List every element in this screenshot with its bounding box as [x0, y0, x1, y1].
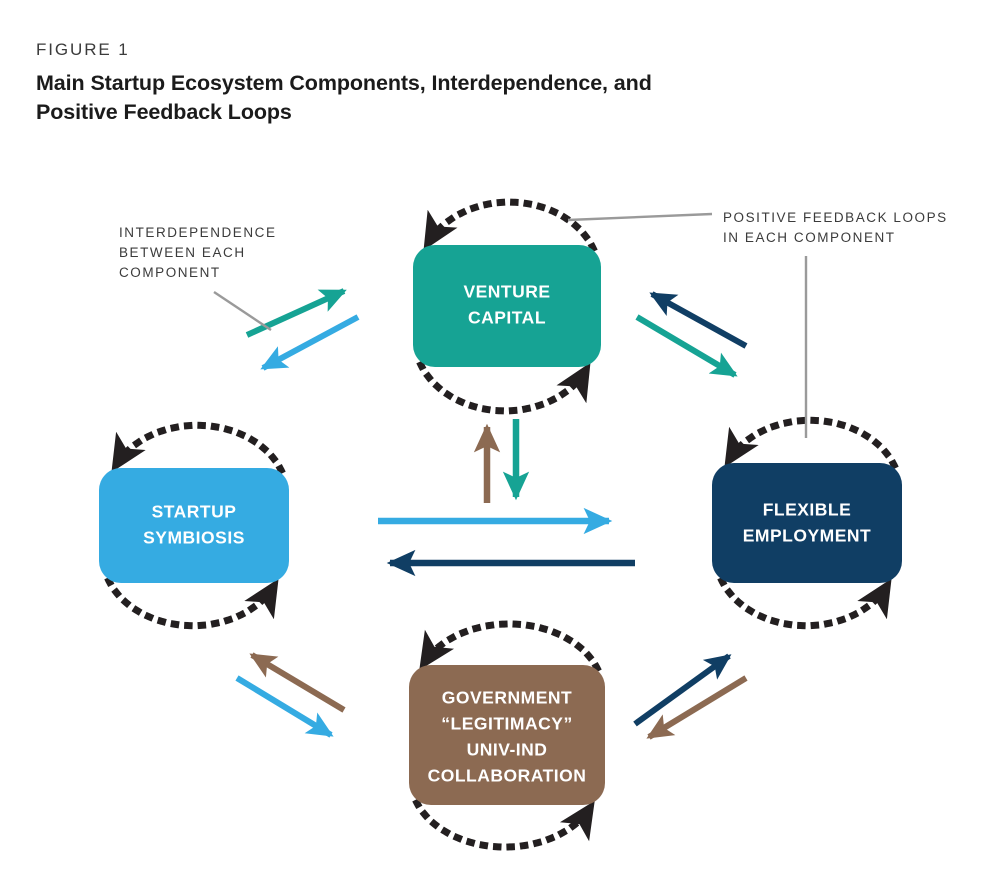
loop-arc-bottom-government: [417, 803, 590, 847]
node-flexible-employment-label-2: EMPLOYMENT: [743, 526, 871, 546]
figure-header: FIGURE 1 Main Startup Ecosystem Componen…: [36, 40, 736, 126]
node-flexible-employment-label-1: FLEXIBLE: [763, 500, 852, 520]
loop-arc-top-flexible: [729, 420, 894, 465]
annotation-interdependence-line-1: INTERDEPENDENCE: [119, 225, 277, 240]
annotation-interdependence: INTERDEPENDENCE BETWEEN EACH COMPONENT: [119, 225, 277, 330]
node-government[interactable]: GOVERNMENT “LEGITIMACY” UNIV-IND COLLABO…: [409, 665, 605, 805]
node-startup-symbiosis-shape[interactable]: [99, 468, 289, 583]
node-startup-symbiosis-label-1: STARTUP: [152, 502, 237, 522]
diagram-canvas: VENTURE CAPITAL STARTUP SYMBIOSIS FLEXIB…: [0, 150, 1000, 880]
annotation-positive-feedback-leader-line-top: [568, 214, 712, 220]
node-startup-symbiosis[interactable]: STARTUP SYMBIOSIS: [99, 468, 289, 583]
annotation-positive-feedback-line-1: POSITIVE FEEDBACK LOOPS: [723, 210, 948, 225]
arrow-pair-startup-flexible: [378, 521, 635, 563]
loop-arc-bottom-flexible: [722, 581, 887, 626]
annotation-interdependence-line-2: BETWEEN EACH: [119, 245, 246, 260]
arrow-vc-to-flexible: [637, 317, 735, 375]
ecosystem-diagram: VENTURE CAPITAL STARTUP SYMBIOSIS FLEXIB…: [0, 150, 1000, 880]
node-startup-symbiosis-label-2: SYMBIOSIS: [143, 528, 245, 548]
annotation-positive-feedback: POSITIVE FEEDBACK LOOPS IN EACH COMPONEN…: [568, 210, 948, 438]
arrow-pair-venture-government: [487, 419, 516, 503]
loop-arc-bottom-startup: [109, 581, 274, 626]
arrow-startup-to-government: [237, 678, 331, 735]
figure-root: FIGURE 1 Main Startup Ecosystem Componen…: [0, 0, 1000, 892]
loop-arc-top-startup: [116, 425, 281, 470]
node-government-label-4: COLLABORATION: [428, 766, 587, 786]
annotation-interdependence-line-3: COMPONENT: [119, 265, 221, 280]
figure-label: FIGURE 1: [36, 40, 736, 60]
arrow-pair-startup-government: [237, 655, 344, 735]
node-venture-capital[interactable]: VENTURE CAPITAL: [413, 245, 601, 367]
arrow-government-to-startup: [252, 655, 344, 710]
arrow-pair-government-flexible: [635, 656, 746, 737]
arrow-startup-to-vc: [247, 291, 344, 335]
node-venture-capital-shape[interactable]: [413, 245, 601, 367]
node-government-label-3: UNIV-IND: [467, 740, 548, 760]
arrow-pair-venture-flexible: [637, 294, 746, 375]
annotation-interdependence-leader-line: [214, 292, 271, 330]
node-flexible-employment-shape[interactable]: [712, 463, 902, 583]
arrow-flexible-to-government: [649, 678, 746, 737]
node-government-label-1: GOVERNMENT: [442, 688, 572, 708]
node-government-label-2: “LEGITIMACY”: [441, 714, 572, 734]
arrow-vc-to-startup: [263, 317, 358, 368]
loop-arc-top-government: [424, 624, 597, 668]
figure-title-line-2: Feedback Loops: [124, 100, 292, 124]
figure-title: Main Startup Ecosystem Components, Inter…: [36, 69, 676, 126]
loop-arc-bottom-vc: [421, 365, 586, 411]
node-venture-capital-label-1: VENTURE: [463, 282, 550, 302]
annotation-positive-feedback-line-2: IN EACH COMPONENT: [723, 230, 896, 245]
arrow-flexible-to-vc: [652, 294, 746, 346]
node-venture-capital-label-2: CAPITAL: [468, 308, 546, 328]
arrow-pair-startup-venture: [247, 291, 358, 368]
node-flexible-employment[interactable]: FLEXIBLE EMPLOYMENT: [712, 463, 902, 583]
loop-arc-top-vc: [428, 202, 593, 248]
